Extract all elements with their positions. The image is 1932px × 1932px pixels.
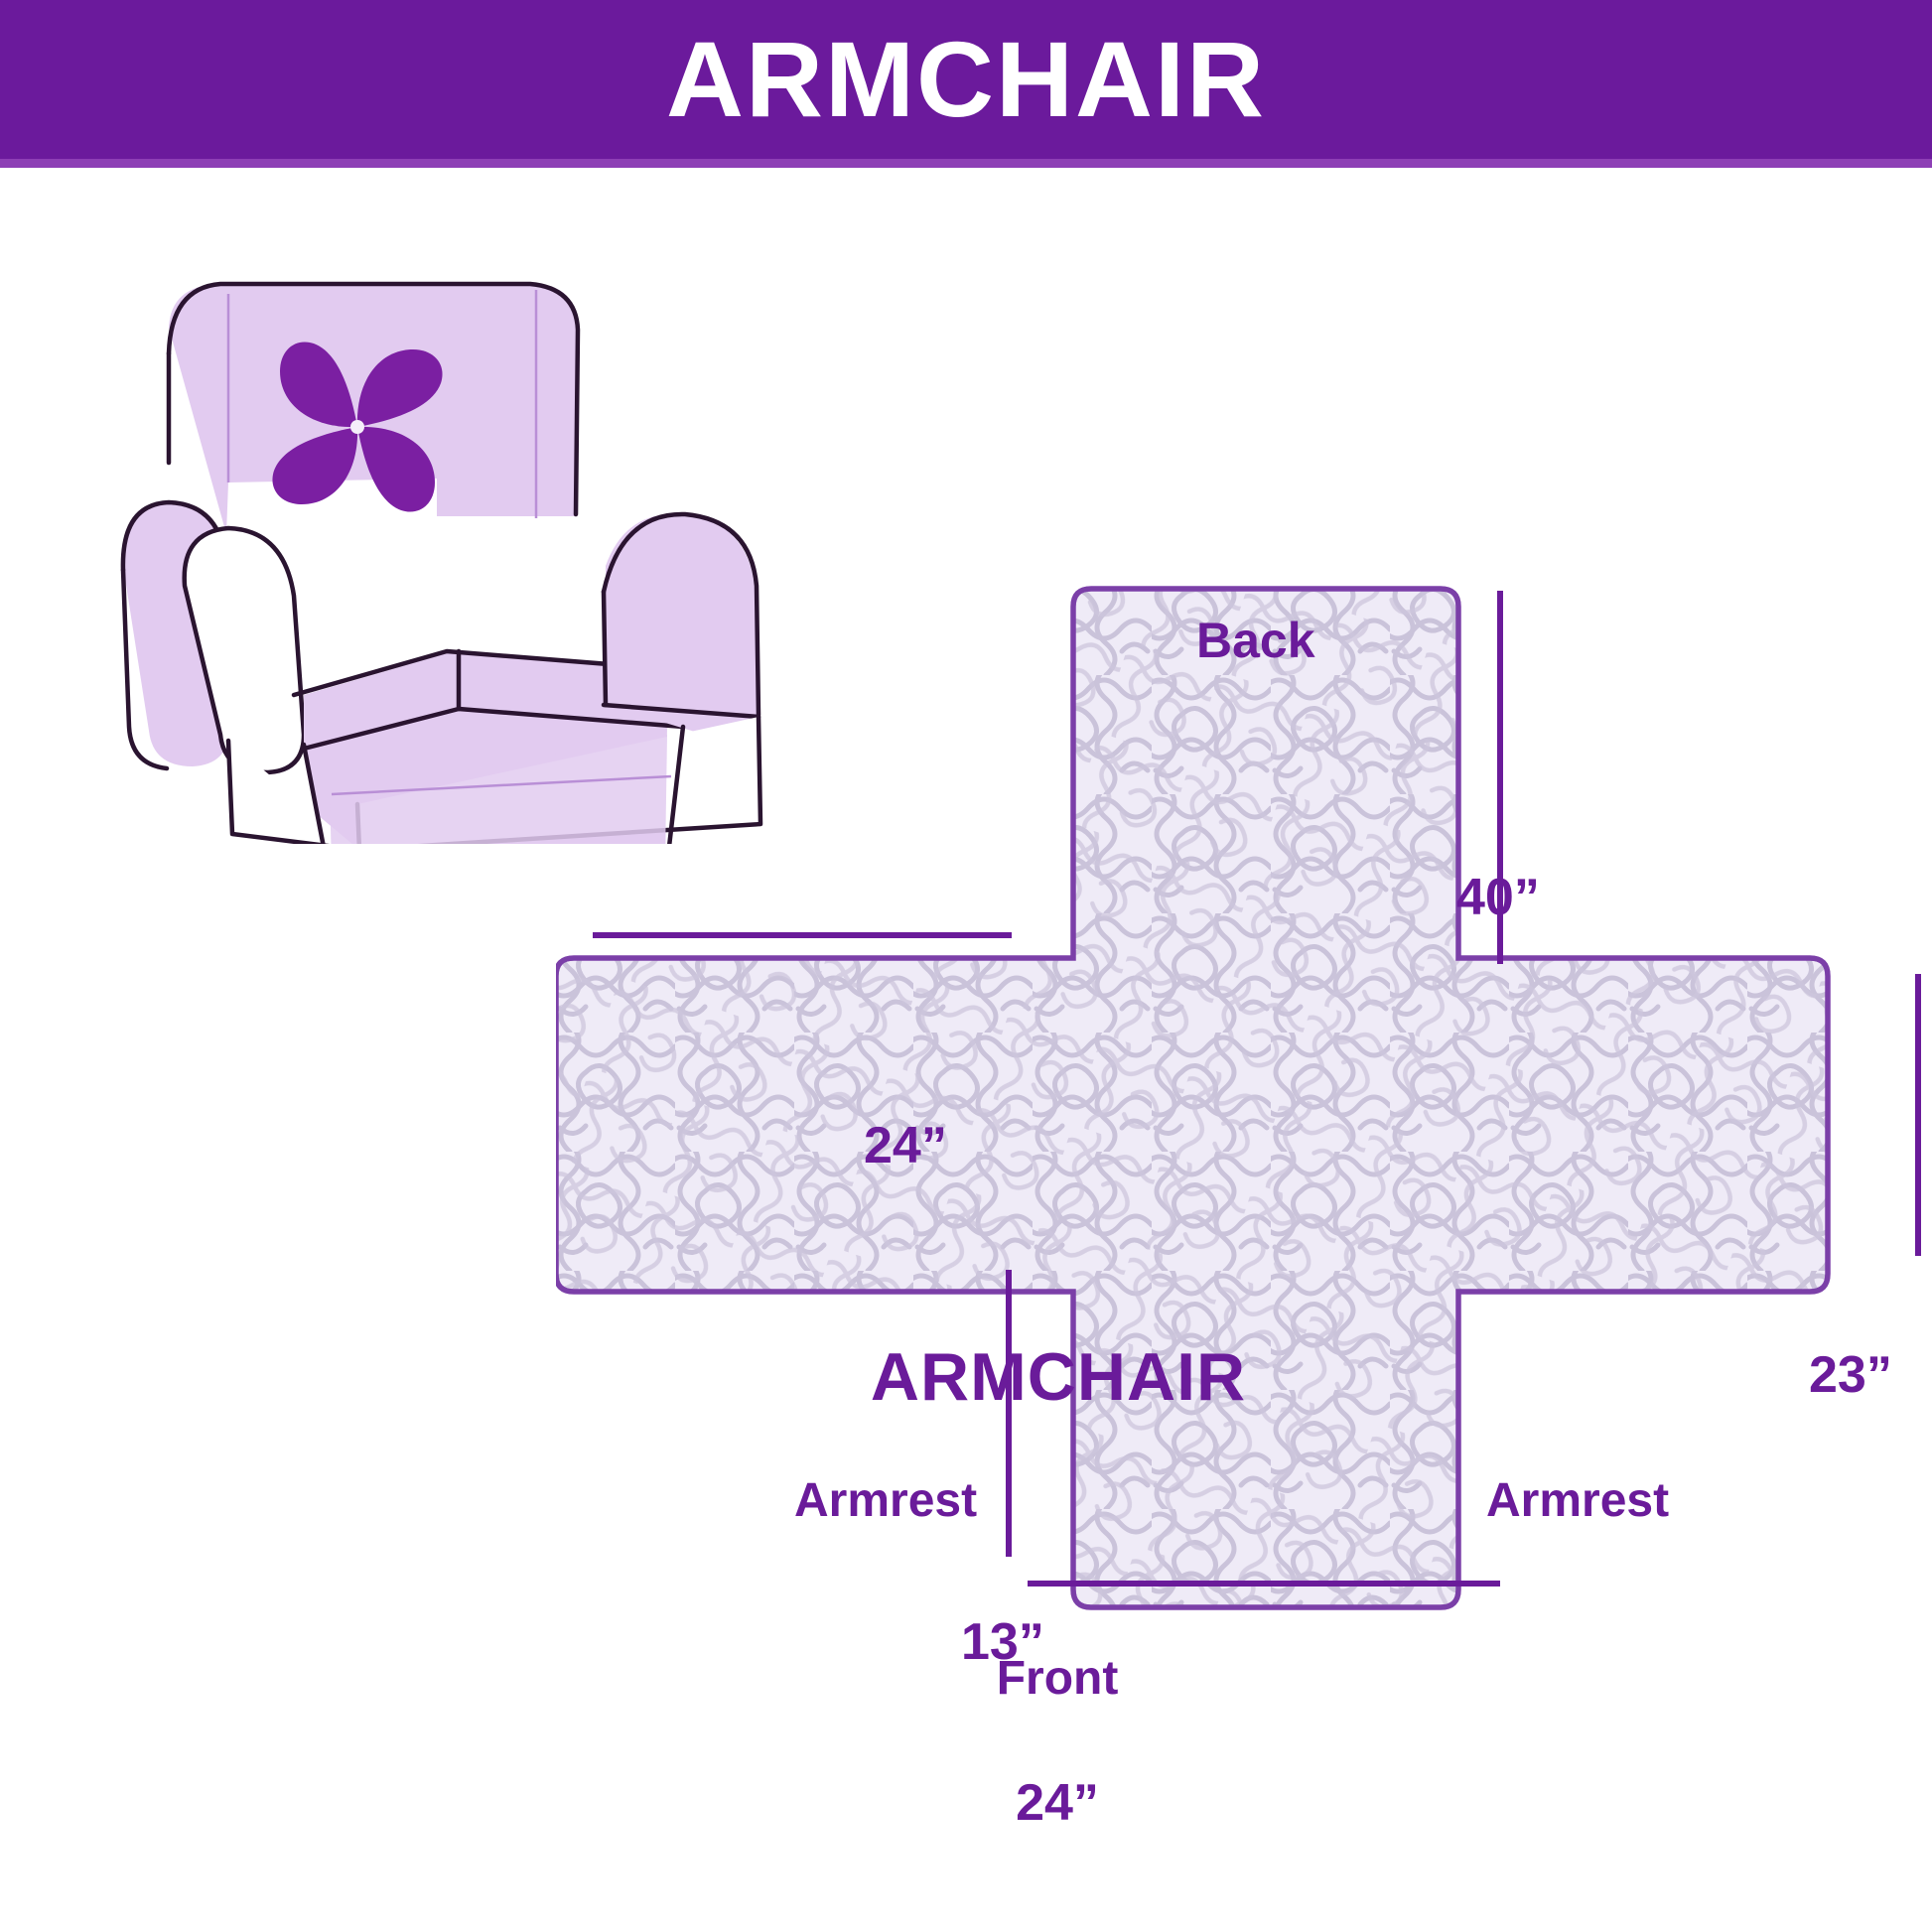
- label-armrest-left: Armrest: [794, 1477, 977, 1525]
- dimension-back-width: 24”: [864, 1120, 947, 1172]
- banner-underline: [0, 159, 1932, 168]
- dimension-front-height: 13”: [961, 1616, 1044, 1668]
- dimension-armrest-depth: 23”: [1809, 1349, 1892, 1401]
- label-armrest-right: Armrest: [1486, 1477, 1669, 1525]
- cross-layout-diagram: [556, 556, 1932, 1837]
- dimension-front-width: 24”: [1016, 1777, 1099, 1829]
- header-banner: ARMCHAIR: [0, 0, 1932, 159]
- dimension-back-height: 40”: [1456, 872, 1540, 923]
- page-title: ARMCHAIR: [666, 26, 1266, 133]
- cross-shape: [556, 556, 1932, 1837]
- label-armchair-center: ARMCHAIR: [871, 1343, 1246, 1411]
- page-root: ARMCHAIR .oln{fill:none;stroke:#2a1430;s…: [0, 0, 1932, 1932]
- label-back: Back: [1196, 616, 1315, 665]
